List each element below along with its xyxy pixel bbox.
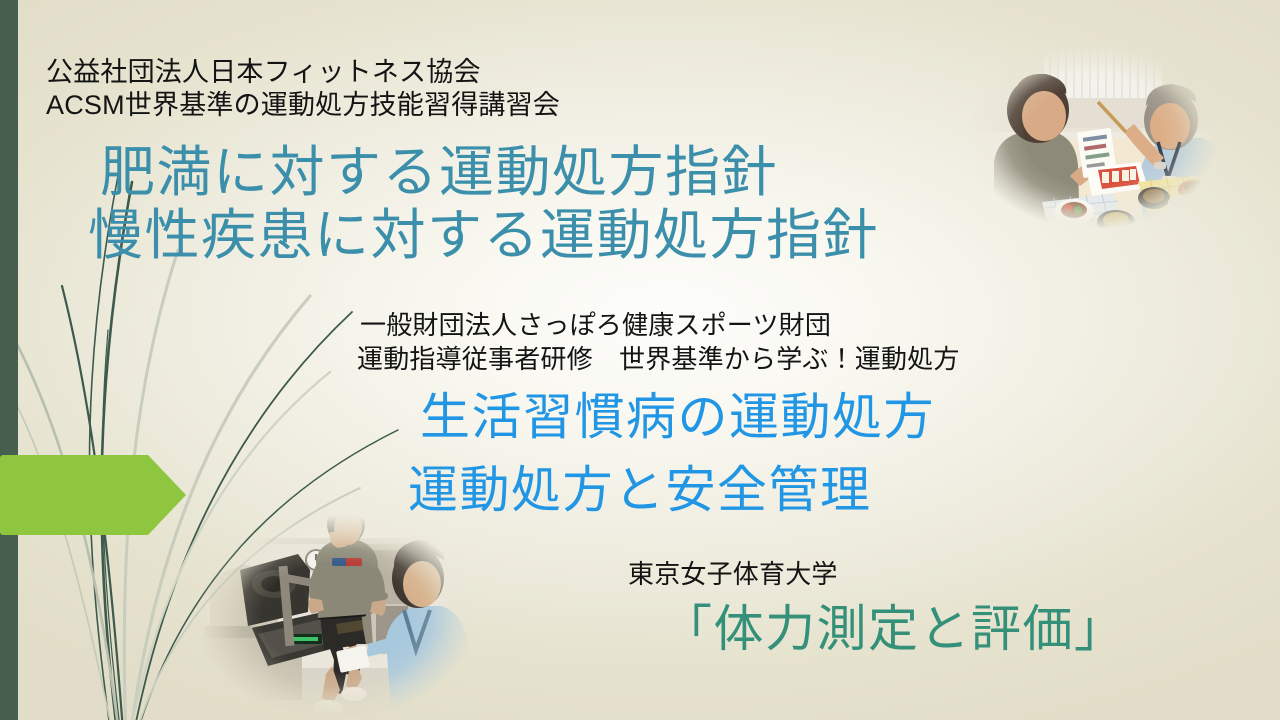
section2-title-line-1: 生活習慣病の運動処方 — [420, 388, 935, 447]
section2-event-name: 運動指導従事者研修 世界基準から学ぶ！運動処方 — [357, 343, 960, 376]
green-arrow-banner — [0, 455, 186, 535]
section1-organization: 公益社団法人日本フィットネス協会 — [46, 56, 481, 89]
photo-treadmill-exercise-test — [186, 508, 486, 720]
section1-title-line-1: 肥満に対する運動処方指針 — [100, 141, 778, 204]
section2-organization: 一般財団法人さっぽろ健康スポーツ財団 — [360, 309, 831, 342]
section3-title-line-1: 「体力測定と評価」 — [662, 600, 1126, 659]
section1-event-name: ACSM世界基準の運動処方技能習得講習会 — [46, 89, 560, 122]
photo-nutrition-counseling — [958, 36, 1228, 236]
presentation-slide: 公益社団法人日本フィットネス協会 ACSM世界基準の運動処方技能習得講習会 肥満… — [0, 0, 1280, 720]
section1-title-line-2: 慢性疾患に対する運動処方指針 — [88, 204, 879, 267]
section2-title-line-2: 運動処方と安全管理 — [408, 461, 872, 520]
section3-organization: 東京女子体育大学 — [628, 558, 838, 591]
left-accent-bar — [0, 0, 18, 720]
